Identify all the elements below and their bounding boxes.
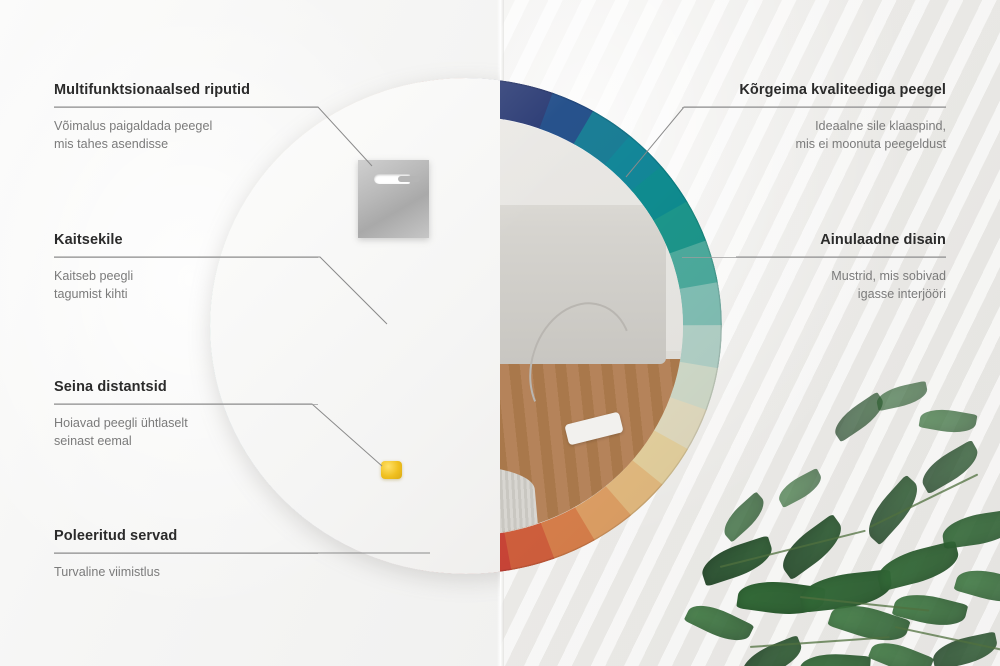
callout-body: Võimalus paigaldada peegel mis tahes ase… bbox=[54, 117, 318, 154]
callout-body: Kaitseb peegli tagumist kihti bbox=[54, 267, 318, 304]
callout-rule bbox=[682, 257, 946, 258]
callout-title: Multifunktsionaalsed riputid bbox=[54, 82, 318, 98]
leaf bbox=[799, 652, 871, 666]
callout-title: Kaitsekile bbox=[54, 232, 318, 248]
leaf bbox=[774, 514, 850, 581]
callout-title: Ainulaadne disain bbox=[682, 232, 946, 248]
callout-ainulaadne-disain: Ainulaadne disain Mustrid, mis sobivad i… bbox=[682, 232, 946, 304]
stem bbox=[750, 636, 890, 648]
callout-multifunktsionaalsed-riputid: Multifunktsionaalsed riputid Võimalus pa… bbox=[54, 82, 318, 154]
callout-rule bbox=[54, 107, 318, 108]
leaf bbox=[774, 468, 826, 508]
wall-spacer bbox=[381, 461, 402, 479]
callout-title: Seina distantsid bbox=[54, 379, 318, 395]
callout-body: Mustrid, mis sobivad igasse interjööri bbox=[682, 267, 946, 304]
callout-seina-distantsid: Seina distantsid Hoiavad peegli ühtlasel… bbox=[54, 379, 318, 451]
leaf bbox=[940, 509, 1000, 549]
callout-kaitsekile: Kaitsekile Kaitseb peegli tagumist kihti bbox=[54, 232, 318, 304]
leaf bbox=[874, 381, 929, 411]
leaf bbox=[737, 635, 806, 666]
callout-body: Hoiavad peegli ühtlaselt seinast eemal bbox=[54, 414, 318, 451]
callout-rule bbox=[54, 553, 318, 554]
callout-rule bbox=[54, 404, 318, 405]
keyhole-slot-icon bbox=[374, 174, 410, 184]
leaf bbox=[919, 405, 978, 436]
hanger-plate bbox=[358, 160, 429, 238]
callout-rule bbox=[682, 107, 946, 108]
callout-korgeima-kvaliteediga-peegel: Kõrgeima kvaliteediga peegel Ideaalne si… bbox=[682, 82, 946, 154]
callout-body: Turvaline viimistlus bbox=[54, 563, 318, 581]
callout-title: Kõrgeima kvaliteediga peegel bbox=[682, 82, 946, 98]
callout-title: Poleeritud servad bbox=[54, 528, 318, 544]
callout-body: Ideaalne sile klaaspind, mis ei moonuta … bbox=[682, 117, 946, 154]
callout-rule bbox=[54, 257, 318, 258]
leaf bbox=[859, 475, 927, 546]
infographic-stage: Multifunktsionaalsed riputid Võimalus pa… bbox=[0, 0, 1000, 666]
callout-poleeritud-servad: Poleeritud servad Turvaline viimistlus bbox=[54, 528, 318, 581]
